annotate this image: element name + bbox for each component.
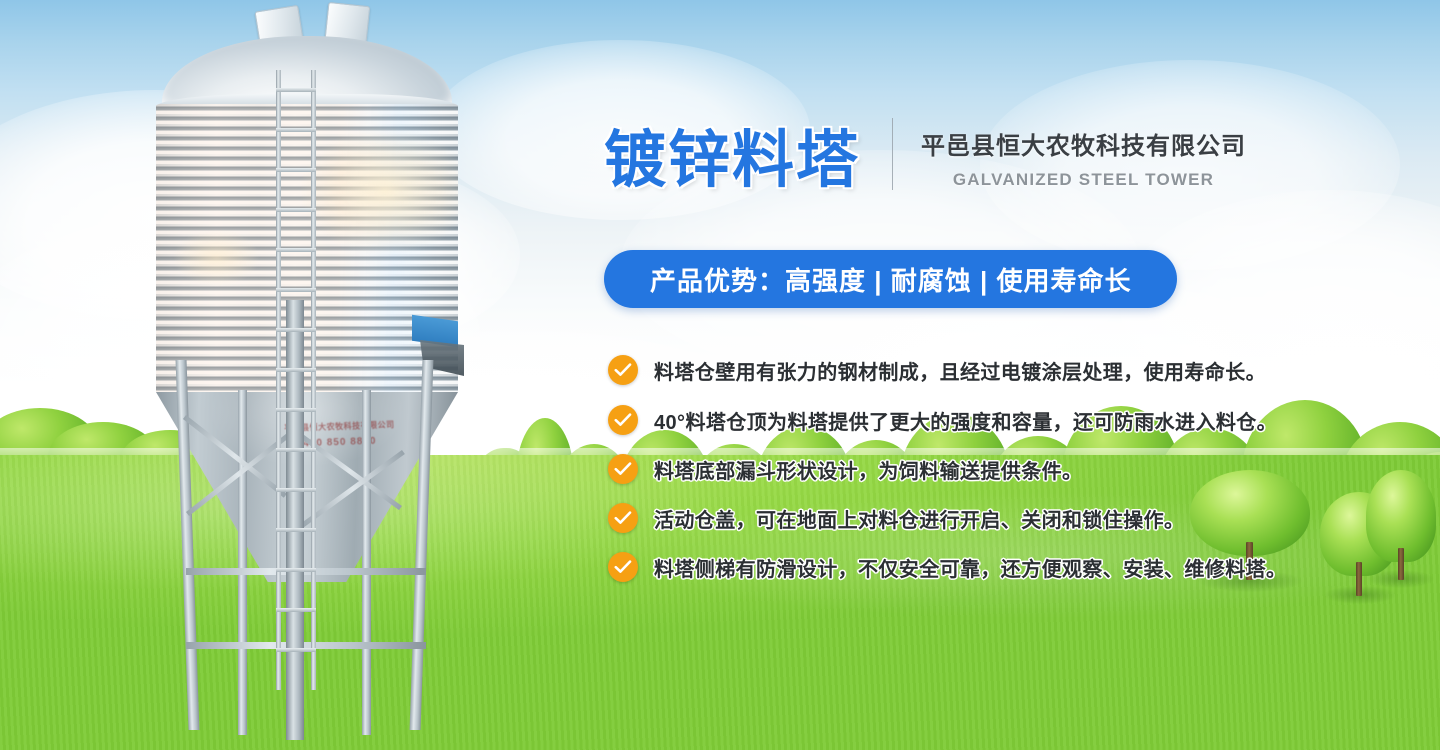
hero-heading-row: 镀锌料塔 平邑县恒大农牧科技有限公司 GALVANIZED STEEL TOWE… <box>604 118 1246 194</box>
feature-item-1: 料塔仓壁用有张力的钢材制成，且经过电镀涂层处理，使用寿命长。 <box>608 352 1308 388</box>
page-title: 镀锌料塔 <box>604 130 860 194</box>
feature-item-text: 活动仓盖，可在地面上对料仓进行开启、关闭和锁住操作。 <box>654 504 1184 533</box>
check-circle-icon <box>608 454 638 484</box>
feature-item-4: 活动仓盖，可在地面上对料仓进行开启、关闭和锁住操作。 <box>608 500 1308 536</box>
company-name-cn: 平邑县恒大农牧科技有限公司 <box>921 126 1246 161</box>
feature-item-text: 料塔侧梯有防滑设计，不仅安全可靠，还方便观察、安装、维修料塔。 <box>654 553 1286 582</box>
feed-silo-product-image: 平邑县恒大农牧科技有限公司 400 850 8810 <box>90 0 510 750</box>
check-circle-icon <box>608 503 638 533</box>
company-name-block: 平邑县恒大农牧科技有限公司 GALVANIZED STEEL TOWER <box>921 126 1246 194</box>
feature-item-5: 料塔侧梯有防滑设计，不仅安全可靠，还方便观察、安装、维修料塔。 <box>608 549 1308 585</box>
check-circle-icon <box>608 405 638 435</box>
advantage-banner: 产品优势：高强度 | 耐腐蚀 | 使用寿命长 <box>604 250 1177 308</box>
advantage-banner-text: 产品优势：高强度 | 耐腐蚀 | 使用寿命长 <box>650 261 1131 298</box>
product-hero-banner: 平邑县恒大农牧科技有限公司 400 850 8810 <box>0 0 1440 750</box>
feature-item-text: 40°料塔仓顶为料塔提供了更大的强度和容量，还可防雨水进入料仓。 <box>654 406 1277 435</box>
feature-item-text: 料塔底部漏斗形状设计，为饲料输送提供条件。 <box>654 455 1082 484</box>
silo-leg <box>362 390 371 735</box>
silo-leg <box>238 390 247 735</box>
feature-list: 料塔仓壁用有张力的钢材制成，且经过电镀涂层处理，使用寿命长。 40°料塔仓顶为料… <box>608 352 1308 599</box>
company-name-en: GALVANIZED STEEL TOWER <box>921 170 1246 190</box>
silo-side-ladder <box>276 70 316 690</box>
check-circle-icon <box>608 552 638 582</box>
feature-item-3: 料塔底部漏斗形状设计，为饲料输送提供条件。 <box>608 451 1308 487</box>
lawn-tree <box>1366 470 1436 588</box>
title-divider <box>892 118 893 190</box>
check-circle-icon <box>608 355 638 385</box>
feature-item-text: 料塔仓壁用有张力的钢材制成，且经过电镀涂层处理，使用寿命长。 <box>654 356 1266 385</box>
feature-item-2: 40°料塔仓顶为料塔提供了更大的强度和容量，还可防雨水进入料仓。 <box>608 402 1308 438</box>
hero-text-content: 镀锌料塔 平邑县恒大农牧科技有限公司 GALVANIZED STEEL TOWE… <box>604 0 1304 750</box>
